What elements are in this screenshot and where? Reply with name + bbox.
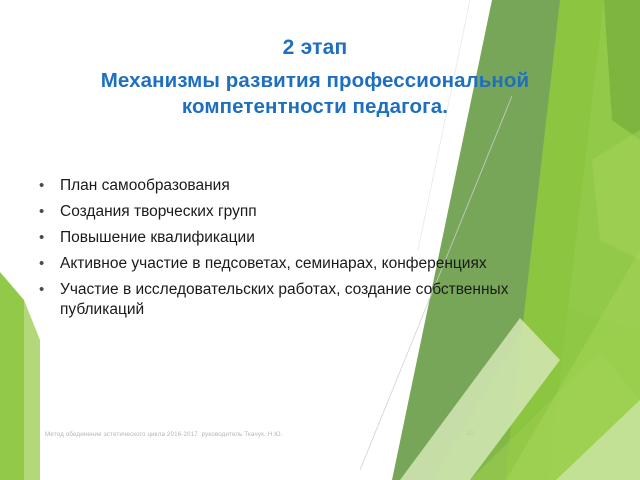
list-item-text: Повышение квалификации bbox=[60, 229, 255, 246]
list-item: • Участие в исследовательских работах, с… bbox=[34, 280, 564, 320]
list-item-text: Участие в исследовательских работах, соз… bbox=[60, 281, 508, 318]
presentation-slide: 2 этап Механизмы развития профессиональн… bbox=[0, 0, 640, 480]
bullet-list: • План самообразования • Создания творче… bbox=[34, 176, 564, 326]
bullet-marker-icon: • bbox=[39, 176, 44, 196]
footer-note: Метод обединение эстетического цикла 201… bbox=[45, 431, 282, 438]
list-item-text: Активное участие в педсоветах, семинарах… bbox=[60, 255, 487, 272]
list-item-text: План самообразования bbox=[60, 177, 230, 194]
title-stage-label: 2 этап bbox=[55, 34, 575, 62]
bullet-marker-icon: • bbox=[39, 254, 44, 274]
title-main-heading: Механизмы развития профессиональной комп… bbox=[55, 68, 575, 120]
bullet-marker-icon: • bbox=[39, 202, 44, 222]
slide-number: 20 bbox=[466, 430, 474, 437]
list-item: • План самообразования bbox=[34, 176, 564, 196]
list-item-text: Создания творческих групп bbox=[60, 203, 257, 220]
bullet-marker-icon: • bbox=[39, 228, 44, 248]
list-item: • Создания творческих групп bbox=[34, 202, 564, 222]
list-item: • Активное участие в педсоветах, семинар… bbox=[34, 254, 564, 274]
slide-title: 2 этап Механизмы развития профессиональн… bbox=[55, 34, 575, 120]
bullet-marker-icon: • bbox=[39, 280, 44, 300]
list-item: • Повышение квалификации bbox=[34, 228, 564, 248]
